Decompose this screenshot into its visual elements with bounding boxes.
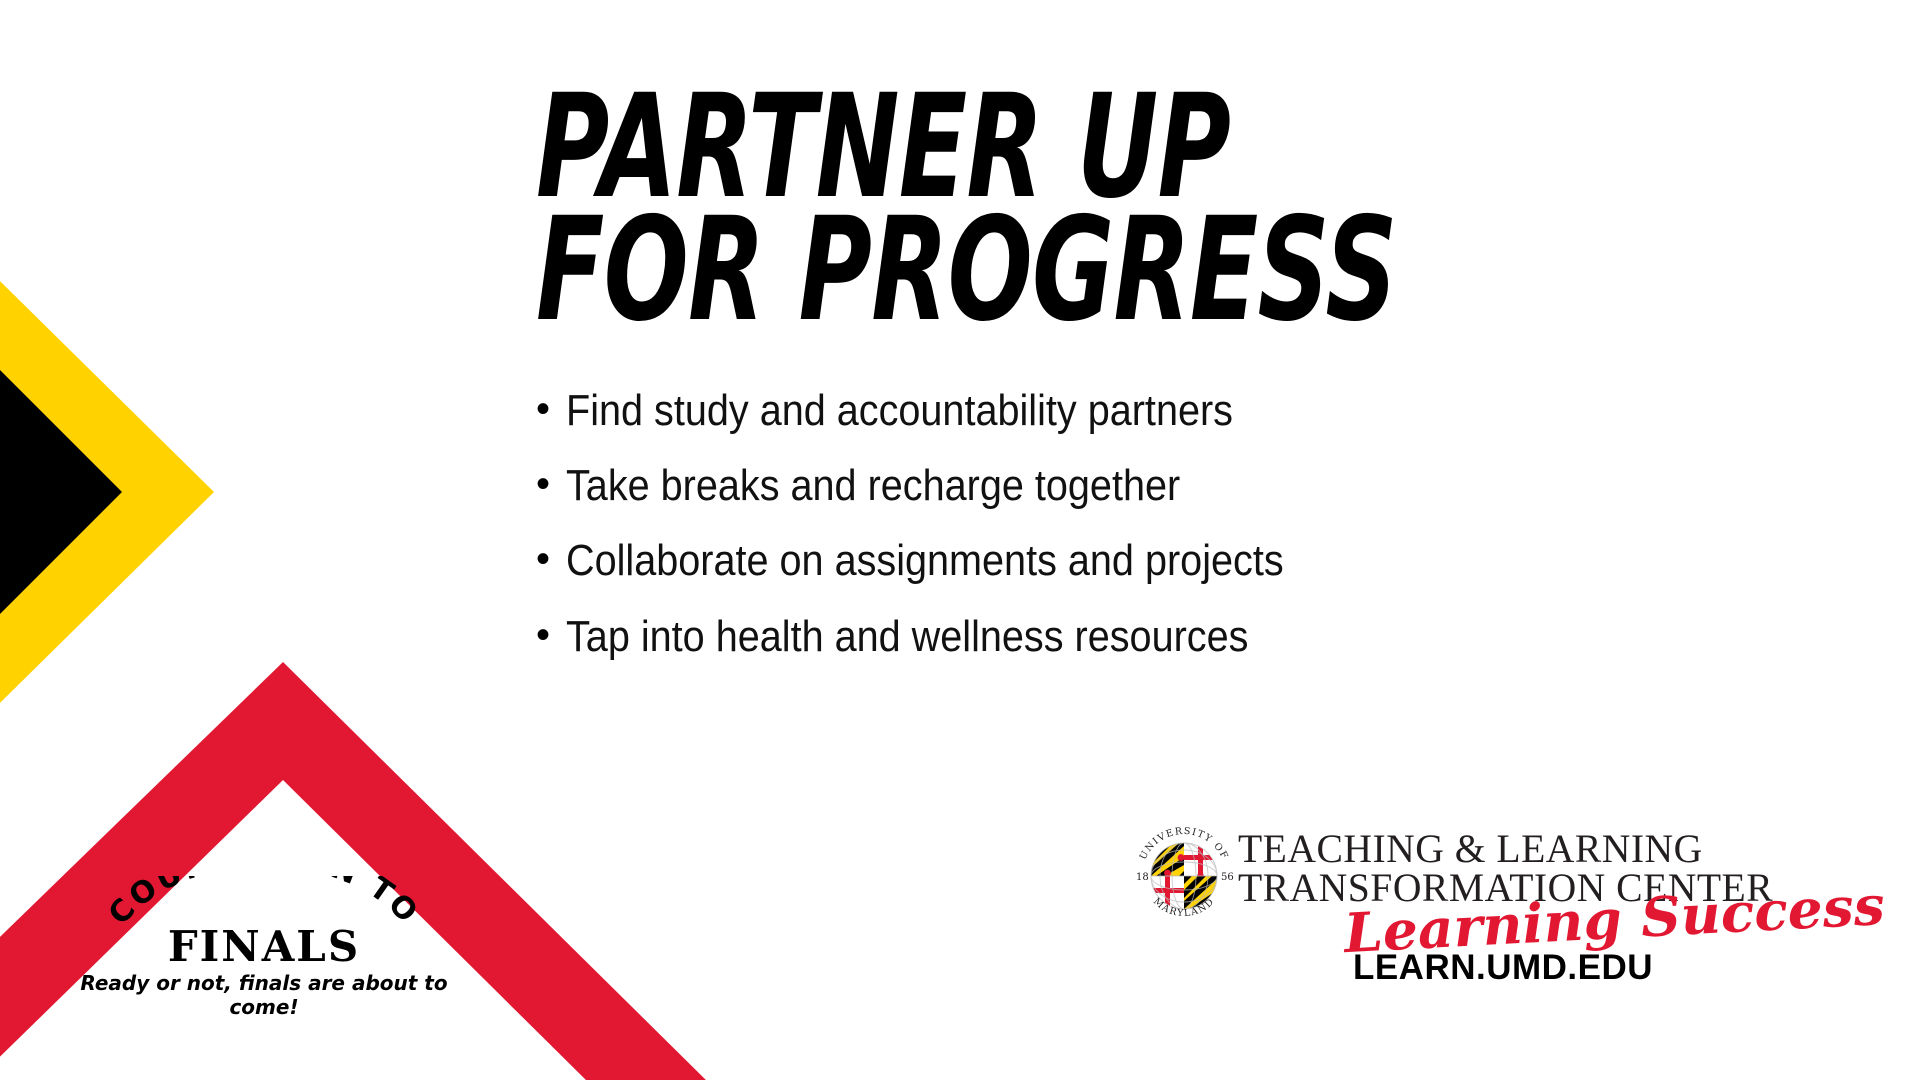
- bullet-marker-icon: •: [536, 388, 566, 430]
- list-item: • Collaborate on assignments and project…: [536, 538, 1596, 584]
- tltc-wordmark-line-1: TEACHING & LEARNING: [1238, 830, 1763, 869]
- list-item-label: Tap into health and wellness resources: [566, 614, 1248, 660]
- badge-tagline: Ready or not, finals are about to come!: [74, 971, 454, 1019]
- list-item-label: Find study and accountability partners: [566, 388, 1233, 434]
- bullet-marker-icon: •: [536, 614, 566, 656]
- title-line-2: FOR PROGRESS: [536, 209, 1166, 332]
- page-title: PARTNER UP FOR PROGRESS: [536, 86, 1436, 332]
- list-item: • Find study and accountability partners: [536, 388, 1596, 434]
- tltc-logo-lockup[interactable]: UNIVERSITY OF MARYLAND 18 56 TEACHING & …: [1130, 818, 1770, 998]
- bullet-marker-icon: •: [536, 538, 566, 580]
- bullet-marker-icon: •: [536, 463, 566, 505]
- list-item-label: Take breaks and recharge together: [566, 463, 1180, 509]
- bullet-list: • Find study and accountability partners…: [536, 388, 1596, 689]
- list-item: • Take breaks and recharge together: [536, 463, 1596, 509]
- gold-chevron-icon: [0, 222, 214, 762]
- countdown-to-finals-badge: COUNTDOWN TO FINALS Ready or not, finals…: [74, 876, 454, 996]
- list-item-label: Collaborate on assignments and projects: [566, 538, 1284, 584]
- seal-year-left: 18: [1136, 872, 1149, 883]
- list-item: • Tap into health and wellness resources: [536, 614, 1596, 660]
- black-arrowhead-icon: [0, 310, 122, 674]
- badge-finals-label: FINALS: [74, 922, 454, 971]
- tltc-url-label[interactable]: LEARN.UMD.EDU: [1238, 948, 1768, 988]
- umd-seal-icon: UNIVERSITY OF MARYLAND 18 56: [1132, 824, 1236, 928]
- slide-canvas: PARTNER UP FOR PROGRESS • Find study and…: [0, 0, 1920, 1080]
- seal-year-right: 56: [1221, 872, 1234, 883]
